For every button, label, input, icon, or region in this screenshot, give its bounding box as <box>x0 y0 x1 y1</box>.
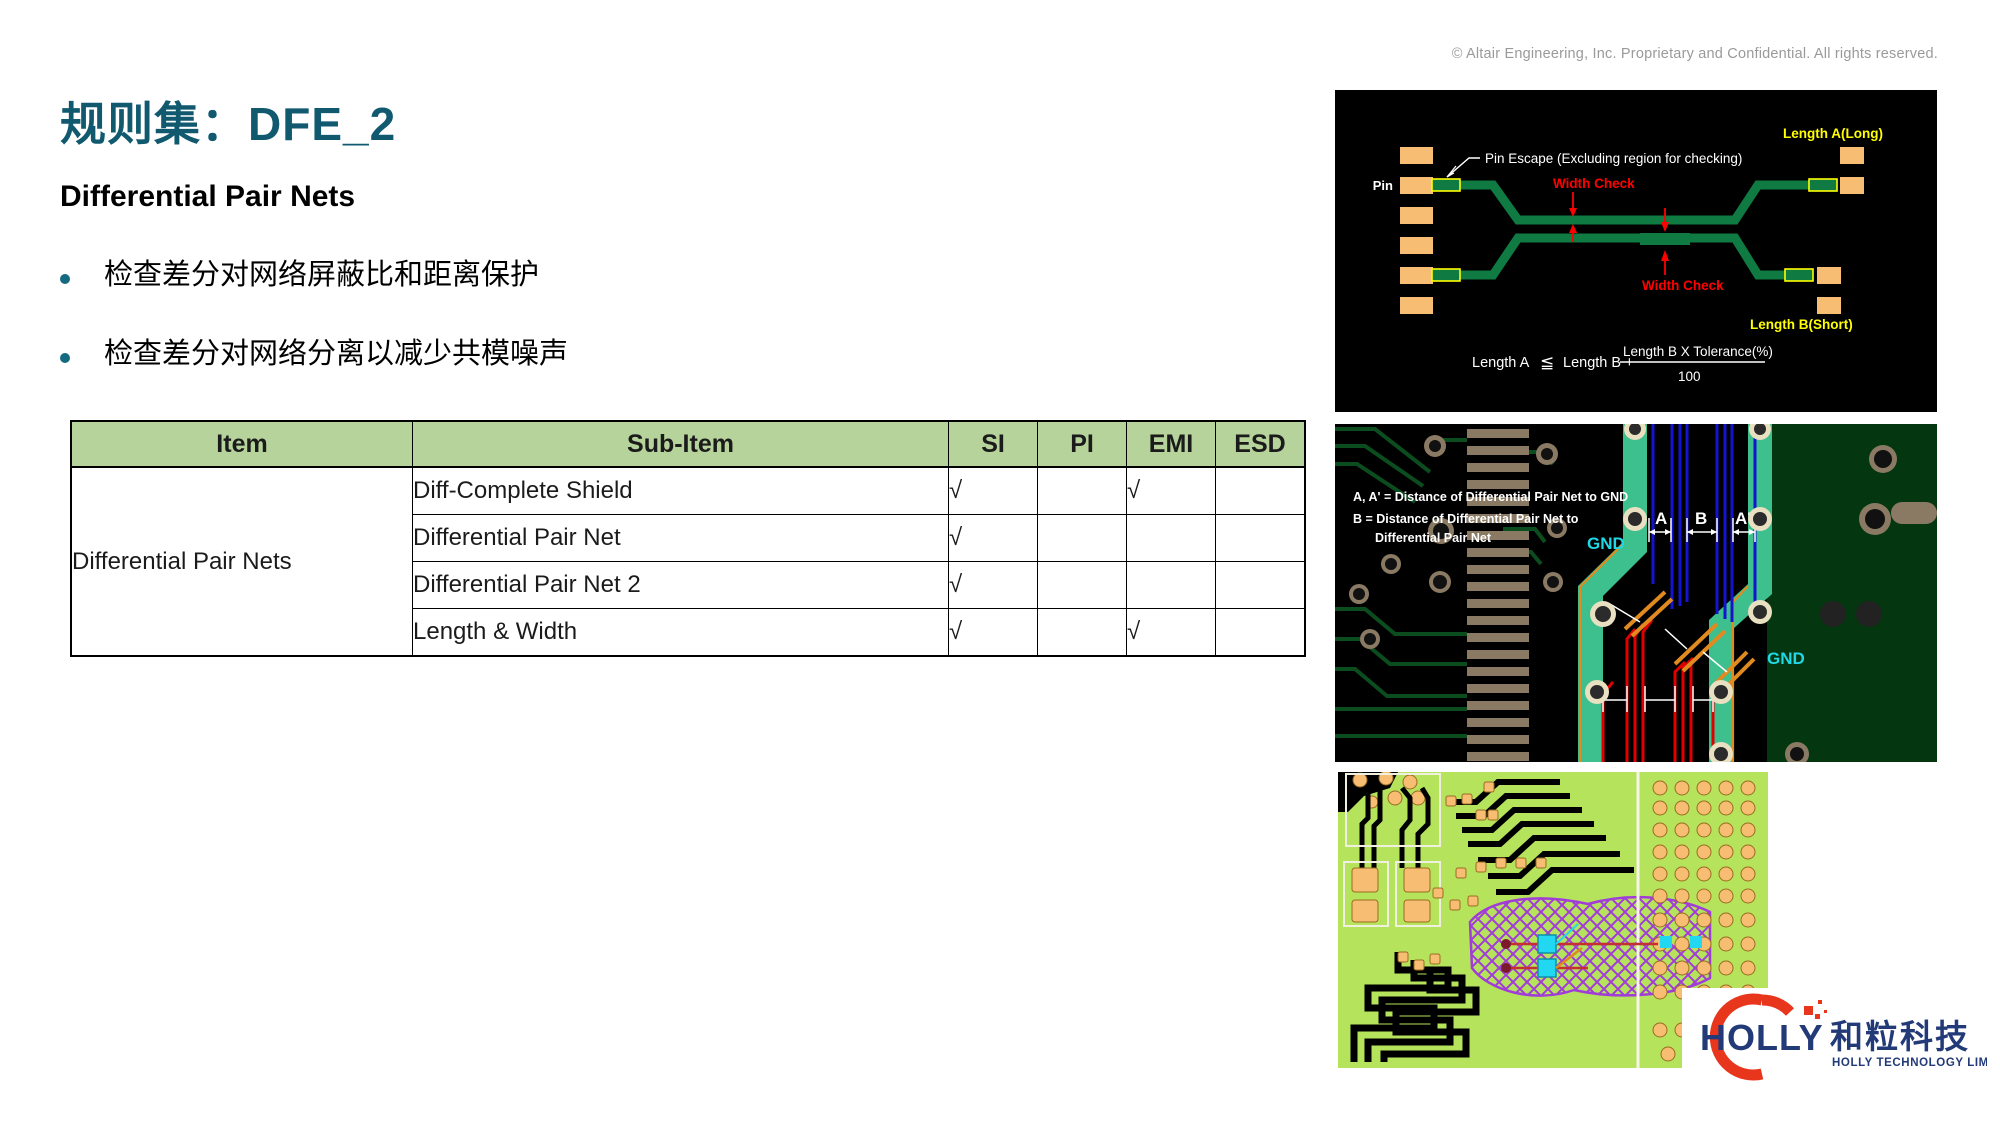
label-width-check-2: Width Check <box>1642 278 1724 293</box>
formula-denominator: 100 <box>1678 369 1701 384</box>
cell-esd <box>1216 562 1306 609</box>
bullet-dot-icon <box>60 353 70 363</box>
col-header-emi: EMI <box>1127 421 1216 467</box>
label-dim-b: B <box>1695 509 1707 528</box>
bullet-text: 检查差分对网络分离以减少共模噪声 <box>104 337 568 372</box>
col-header-pi: PI <box>1038 421 1127 467</box>
logo-chinese-name: 和粒科技 <box>1830 1018 1970 1055</box>
cell-pi <box>1038 609 1127 657</box>
cell-sub-item: Differential Pair Net <box>413 515 949 562</box>
cell-emi: √ <box>1127 467 1216 515</box>
label-gnd-bottom: GND <box>1767 649 1805 668</box>
rules-table-wrapper: Item Sub-Item SI PI EMI ESD Differential… <box>70 420 1306 657</box>
label-legend-line-3: Differential Pair Net <box>1375 531 1492 545</box>
list-item: 检查差分对网络屏蔽比和距离保护 <box>60 258 960 293</box>
page-title: 规则集：DFE_2 <box>60 88 396 154</box>
table-header-row: Item Sub-Item SI PI EMI ESD <box>71 421 1305 467</box>
bullet-dot-icon <box>60 274 70 284</box>
cell-esd <box>1216 467 1306 515</box>
list-item: 检查差分对网络分离以减少共模噪声 <box>60 337 960 372</box>
label-length-b: Length B(Short) <box>1750 317 1853 332</box>
cell-pi <box>1038 515 1127 562</box>
cell-esd <box>1216 609 1306 657</box>
label-pin: Pin <box>1373 178 1393 193</box>
cell-si: √ <box>949 467 1038 515</box>
label-dim-a: A <box>1655 509 1667 528</box>
label-legend-line-2: B = Distance of Differential Pair Net to <box>1353 512 1579 526</box>
cell-si: √ <box>949 609 1038 657</box>
bullet-text: 检查差分对网络屏蔽比和距离保护 <box>104 258 539 293</box>
slide-root: 规则集：DFE_2 Differential Pair Nets 检查差分对网络… <box>0 0 2000 1125</box>
logo-tagline: HOLLY TECHNOLOGY LIMITED <box>1832 1057 1987 1069</box>
cell-pi <box>1038 467 1127 515</box>
label-length-a: Length A(Long) <box>1783 126 1883 141</box>
formula-operator: ≦ <box>1540 353 1554 372</box>
label-pin-escape: Pin Escape (Excluding region for checkin… <box>1485 151 1742 166</box>
cell-sub-item: Differential Pair Net 2 <box>413 562 949 609</box>
cell-emi <box>1127 515 1216 562</box>
cell-sub-item: Diff-Complete Shield <box>413 467 949 515</box>
cell-si: √ <box>949 515 1038 562</box>
page-subtitle: Differential Pair Nets <box>60 180 355 214</box>
cell-sub-item: Length & Width <box>413 609 949 657</box>
col-header-sub-item: Sub-Item <box>413 421 949 467</box>
label-legend-line-1: A, A' = Distance of Differential Pair Ne… <box>1353 490 1628 504</box>
bullet-list: 检查差分对网络屏蔽比和距离保护 检查差分对网络分离以减少共模噪声 <box>60 258 960 416</box>
formula-numerator: Length B X Tolerance(%) <box>1623 344 1773 359</box>
copyright-notice: © Altair Engineering, Inc. Proprietary a… <box>1452 46 1938 62</box>
cell-emi: √ <box>1127 609 1216 657</box>
cell-esd <box>1216 515 1306 562</box>
col-header-si: SI <box>949 421 1038 467</box>
cell-si: √ <box>949 562 1038 609</box>
col-header-esd: ESD <box>1216 421 1306 467</box>
cell-item-group: Differential Pair Nets <box>71 467 413 656</box>
label-gnd-top: GND <box>1587 534 1625 553</box>
company-logo: HOLLY 和粒科技 HOLLY TECHNOLOGY LIMITED <box>1682 988 1987 1086</box>
rules-table: Item Sub-Item SI PI EMI ESD Differential… <box>70 420 1306 657</box>
table-row: Differential Pair Nets Diff-Complete Shi… <box>71 467 1305 515</box>
col-header-item: Item <box>71 421 413 467</box>
figure-differential-pair-length-matching: Pin Pin Escape (Excluding region for che… <box>1335 90 1937 412</box>
cell-pi <box>1038 562 1127 609</box>
label-width-check-1: Width Check <box>1553 176 1635 191</box>
figure-differential-pair-spacing: A, A' = Distance of Differential Pair Ne… <box>1335 424 1937 762</box>
logo-wordmark: HOLLY <box>1700 1017 1824 1058</box>
cell-emi <box>1127 562 1216 609</box>
formula-lhs: Length A <box>1472 355 1530 371</box>
